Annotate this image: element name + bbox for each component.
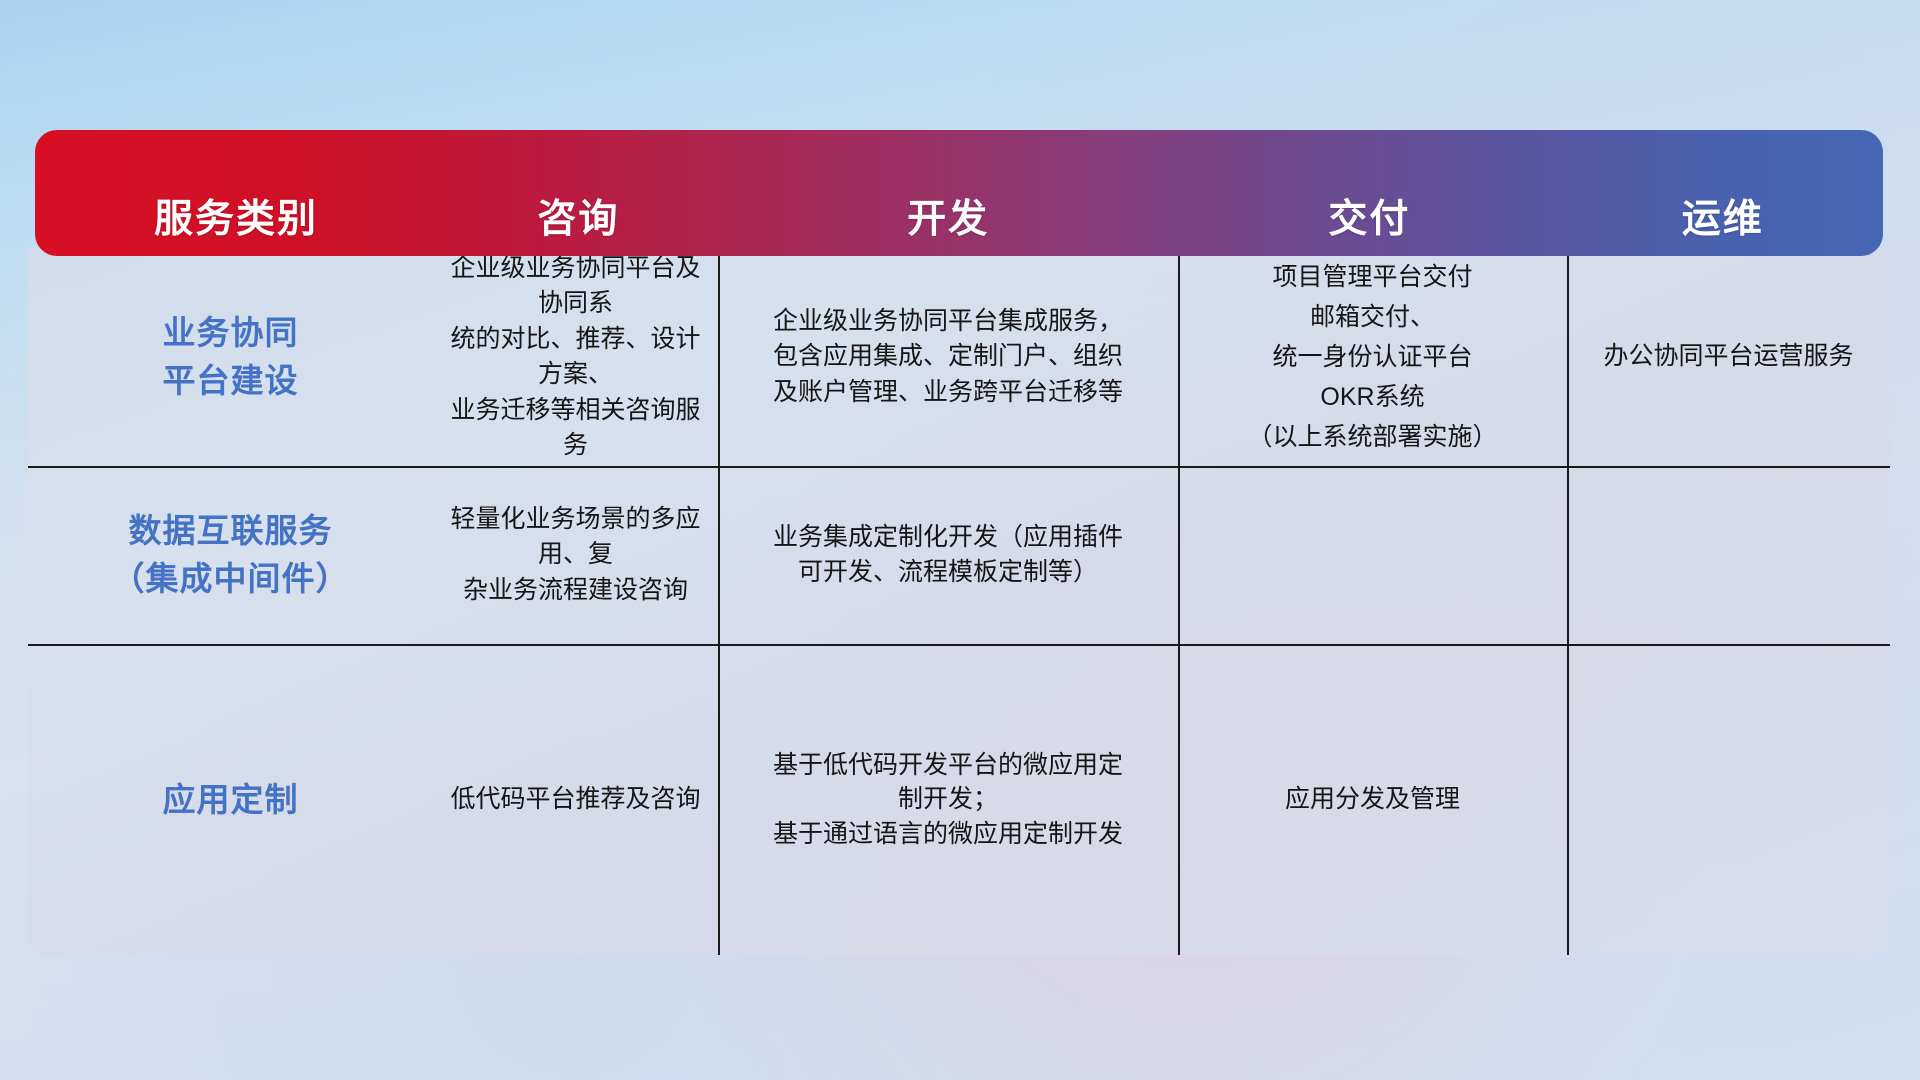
column-header-operations: 运维 [1562,199,1883,242]
column-header-category: 服务类别 [35,199,437,242]
table-header-band: 服务类别 咨询 开发 交付 运维 [35,130,1883,256]
column-header-consulting: 咨询 [437,199,720,242]
cell-operations: 办公协同平台运营服务 [1567,248,1890,466]
cell-category: 应用定制 [28,644,433,955]
cell-text: 业务集成定制化开发（应用插件 可开发、流程模板定制等） [773,520,1123,591]
table-row: 数据互联服务 （集成中间件） 轻量化业务场景的多应用、复 杂业务流程建设咨询 业… [28,466,1890,644]
cell-category: 数据互联服务 （集成中间件） [28,466,433,644]
cell-delivery: 项目管理平台交付 邮箱交付、 统一身份认证平台 OKR系统 （以上系统部署实施） [1178,248,1567,466]
cell-delivery: 应用分发及管理 [1178,644,1567,955]
cell-text: 基于低代码开发平台的微应用定 制开发； 基于通过语言的微应用定制开发 [773,748,1123,852]
table-row: 业务协同 平台建设 企业级业务协同平台及协同系 统的对比、推荐、设计方案、 业务… [28,248,1890,466]
cell-consulting: 轻量化业务场景的多应用、复 杂业务流程建设咨询 [433,466,718,644]
cell-text: 办公协同平台运营服务 [1603,339,1853,375]
cell-development: 企业级业务协同平台集成服务， 包含应用集成、定制门户、组织 及账户管理、业务跨平… [718,248,1178,466]
cell-text: 低代码平台推荐及咨询 [450,782,700,818]
cell-consulting: 企业级业务协同平台及协同系 统的对比、推荐、设计方案、 业务迁移等相关咨询服务 [433,248,718,466]
service-category-table: 服务类别 咨询 开发 交付 运维 业务协同 平台建设 企业级业务协同平台及协同系… [28,130,1890,955]
cell-development: 业务集成定制化开发（应用插件 可开发、流程模板定制等） [718,466,1178,644]
cell-category: 业务协同 平台建设 [28,248,433,466]
cell-text: 项目管理平台交付 邮箱交付、 统一身份认证平台 OKR系统 （以上系统部署实施） [1247,257,1497,457]
category-label: 业务协同 平台建设 [163,309,299,405]
cell-delivery [1178,466,1567,644]
category-label: 应用定制 [163,776,299,824]
slide-canvas: 服务类别 咨询 开发 交付 运维 业务协同 平台建设 企业级业务协同平台及协同系… [0,0,1920,1080]
cell-text: 企业级业务协同平台集成服务， 包含应用集成、定制门户、组织 及账户管理、业务跨平… [773,304,1123,411]
cell-text: 应用分发及管理 [1285,782,1460,818]
cell-operations [1567,466,1890,644]
table-row: 应用定制 低代码平台推荐及咨询 基于低代码开发平台的微应用定 制开发； 基于通过… [28,644,1890,955]
cell-consulting: 低代码平台推荐及咨询 [433,644,718,955]
table-body-panel: 业务协同 平台建设 企业级业务协同平台及协同系 统的对比、推荐、设计方案、 业务… [28,248,1890,955]
cell-operations [1567,644,1890,955]
cell-text: 企业级业务协同平台及协同系 统的对比、推荐、设计方案、 业务迁移等相关咨询服务 [447,251,704,464]
table-grid: 业务协同 平台建设 企业级业务协同平台及协同系 统的对比、推荐、设计方案、 业务… [28,248,1890,955]
column-header-development: 开发 [720,199,1177,242]
category-label: 数据互联服务 （集成中间件） [112,507,350,603]
cell-development: 基于低代码开发平台的微应用定 制开发； 基于通过语言的微应用定制开发 [718,644,1178,955]
column-header-delivery: 交付 [1176,199,1562,242]
cell-text: 轻量化业务场景的多应用、复 杂业务流程建设咨询 [447,502,704,609]
